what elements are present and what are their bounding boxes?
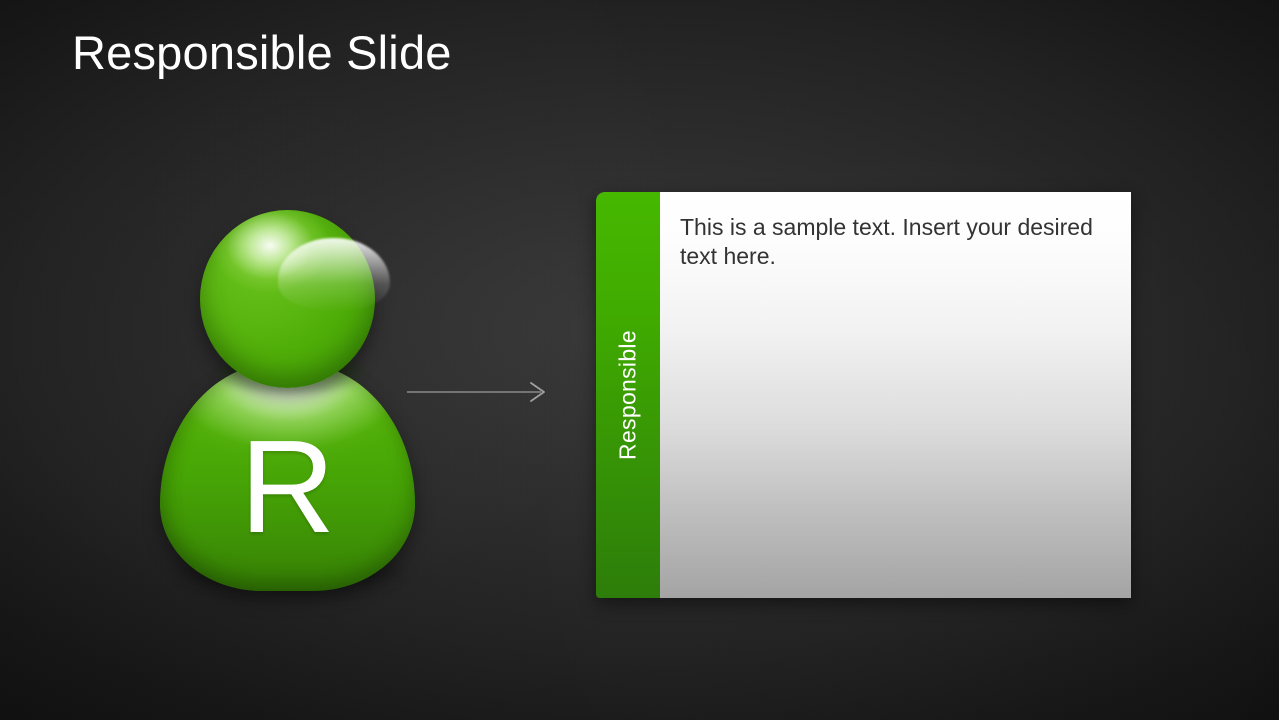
avatar-body-shape: R: [160, 363, 415, 591]
responsible-person-avatar: R: [150, 195, 430, 605]
avatar-head-shape: [200, 210, 375, 388]
card-category-tab[interactable]: Responsible: [596, 192, 660, 598]
card-body-text: This is a sample text. Insert your desir…: [680, 213, 1107, 272]
page-title: Responsible Slide: [72, 26, 452, 80]
arrow-right-icon: [405, 376, 550, 408]
avatar-head-highlight: [278, 238, 390, 312]
card-category-label: Responsible: [615, 330, 642, 460]
card-body-panel[interactable]: This is a sample text. Insert your desir…: [660, 192, 1131, 598]
responsible-content-card[interactable]: Responsible This is a sample text. Inser…: [596, 192, 1131, 598]
slide-canvas: Responsible Slide R Responsible This is …: [0, 0, 1279, 720]
avatar-letter: R: [160, 421, 415, 553]
